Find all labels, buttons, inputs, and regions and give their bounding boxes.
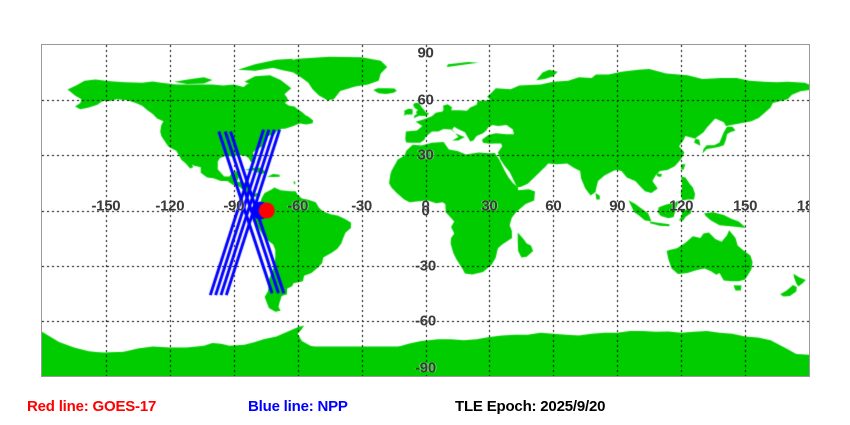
lat-tick-label-0: 0 — [421, 203, 429, 218]
legend-tle-epoch: TLE Epoch: 2025/9/20 — [455, 399, 605, 414]
lat-tick-label-90: 90 — [417, 46, 433, 61]
lat-tick-label-neg30: -30 — [415, 258, 436, 273]
lon-tick-label-neg30: -30 — [351, 198, 372, 213]
map-plot-frame: -300306090120150180-150-120-90-609060300… — [41, 44, 810, 377]
lon-tick-label-30: 30 — [481, 198, 497, 213]
lon-tick-label-neg60: -60 — [287, 198, 308, 213]
lat-tick-label-30: 30 — [417, 148, 433, 163]
legend-bar: Red line: GOES-17 Blue line: NPP TLE Epo… — [0, 392, 850, 425]
lon-tick-label-neg120: -120 — [155, 198, 184, 213]
lon-tick-label-120: 120 — [669, 198, 693, 213]
satellite-ground-track-map: -300306090120150180-150-120-90-609060300… — [0, 0, 850, 425]
lat-tick-label-60: 60 — [417, 93, 433, 108]
lon-tick-label-180: 180 — [797, 198, 810, 213]
lon-tick-label-neg150: -150 — [91, 198, 120, 213]
lat-tick-label-neg90: -90 — [415, 361, 436, 376]
lon-tick-label-neg90: -90 — [223, 198, 244, 213]
lon-tick-label-150: 150 — [733, 198, 757, 213]
lat-tick-label-neg60: -60 — [415, 313, 436, 328]
legend-blue-line-npp: Blue line: NPP — [248, 399, 348, 414]
legend-red-line-goes17: Red line: GOES-17 — [27, 399, 156, 414]
lon-tick-label-60: 60 — [545, 198, 561, 213]
lon-tick-label-90: 90 — [609, 198, 625, 213]
